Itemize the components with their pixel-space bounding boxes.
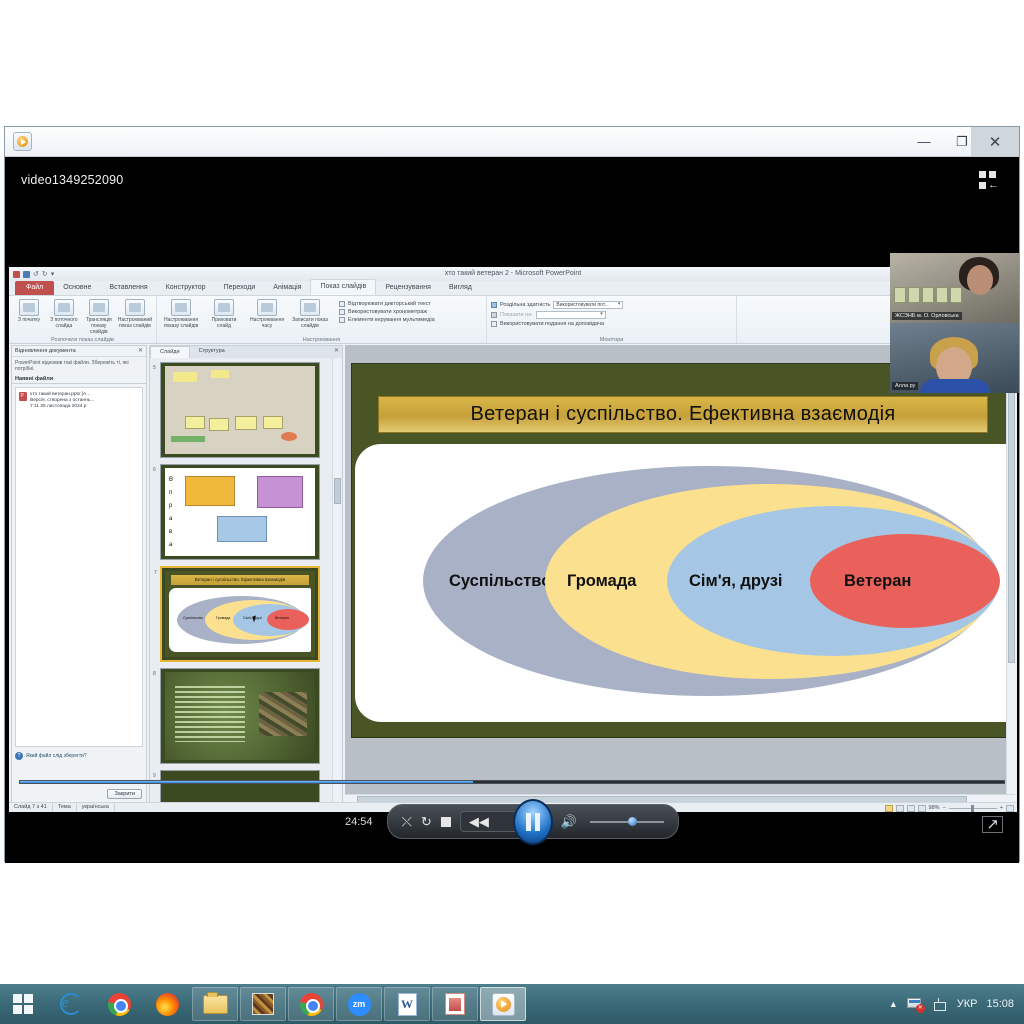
customize-qat-icon[interactable]: ▾ <box>51 270 55 278</box>
rehearse-timings-icon <box>257 299 277 316</box>
button-from-current-slide[interactable]: З поточного слайда <box>48 298 80 329</box>
checkbox-use-timings[interactable]: Використовувати хронометраж <box>339 309 435 315</box>
ribbon: З початку З поточного слайда Трансляція … <box>9 296 1017 344</box>
hide-slide-icon <box>214 299 234 316</box>
view-slideshow-icon[interactable] <box>918 805 926 812</box>
participant-name-2: Алла ру <box>892 382 918 390</box>
seek-bar-row[interactable] <box>5 777 1019 787</box>
row-resolution[interactable]: Роздільна здатність Використовувати пот.… <box>491 301 732 309</box>
close-icon[interactable]: ✕ <box>334 347 339 354</box>
player-controls: 24:54 ⤬ ↻ ◀◀ ▶▶ 🔊 <box>345 804 679 839</box>
powerpoint-file-icon <box>19 392 27 401</box>
slider-knob[interactable] <box>971 805 974 812</box>
recovery-item-name: хто такий ветеран.pptx [A... <box>30 392 90 397</box>
slide-diagram: Суспільство Громада Сім'я, друзі Ветеран <box>355 444 1011 722</box>
ribbon-group-setup: Настроювання показу слайдів Приховати сл… <box>157 296 487 343</box>
word-icon: W <box>398 993 417 1016</box>
ribbon-group-monitors: Роздільна здатність Використовувати пот.… <box>487 296 737 343</box>
thumbnail-slide-7[interactable]: 7 Ветеран і суспільство. Ефективна взаєм… <box>160 566 320 662</box>
view-sorter-icon[interactable] <box>896 805 904 812</box>
thumbnail-slide-5[interactable]: 5 <box>160 362 320 458</box>
slide-number: 8 <box>153 671 156 677</box>
folder-icon <box>203 995 228 1014</box>
elapsed-time: 24:54 <box>345 816 373 828</box>
button-record-slideshow[interactable]: Записати показ слайдів <box>290 298 330 329</box>
thumbnails-scrollbar[interactable] <box>332 358 341 804</box>
play-pause-button[interactable] <box>513 799 553 845</box>
document-recovery-pane: Відновлення документа ✕ PowerPoint відно… <box>11 345 147 803</box>
thumbnail-title: Ветеран і суспільство. Ефективна взаємод… <box>171 575 309 585</box>
webcam-tile-1[interactable]: ЖСЭНБ м. О. Орловська <box>890 253 1019 323</box>
checkbox-icon <box>339 309 345 315</box>
redo-icon[interactable]: ↻ <box>42 270 48 278</box>
start-button[interactable] <box>0 984 46 1024</box>
zoom-in-button[interactable]: + <box>1000 805 1003 811</box>
language-indicator[interactable]: українська <box>77 803 115 812</box>
show-on-dropdown[interactable] <box>536 311 606 319</box>
close-icon[interactable]: ✕ <box>138 347 143 354</box>
tab-slide-show[interactable]: Показ слайдів <box>310 279 376 295</box>
tab-transitions[interactable]: Переходи <box>215 281 265 295</box>
powerpoint-recording: хто такий ветеран 2 - Microsoft PowerPoi… <box>9 267 1017 812</box>
current-slide[interactable]: Ветеран і суспільство. Ефективна взаємод… <box>351 363 1011 738</box>
taskbar-item-word[interactable]: W <box>384 987 430 1021</box>
taskbar-item-chrome-window[interactable] <box>288 987 334 1021</box>
tab-slides[interactable]: Слайди <box>150 346 190 358</box>
checkbox-presenter-view[interactable]: Використовувати подання на доповідача <box>491 321 732 327</box>
tab-home[interactable]: Основне <box>54 281 100 295</box>
recovery-close-button[interactable]: Закрити <box>107 789 142 799</box>
media-player-window: — ❐ ✕ video1349252090 ← хто такий ветера… <box>4 126 1020 862</box>
recovery-file-list[interactable]: хто такий ветеран.pptx [A... Версія, ств… <box>15 387 143 747</box>
checkbox-icon <box>339 317 345 323</box>
save-icon[interactable] <box>23 271 30 278</box>
custom-show-icon <box>125 299 145 316</box>
photo-icon <box>252 993 274 1015</box>
slide-canvas-area[interactable]: Ветеран і суспільство. Ефективна взаємод… <box>345 345 1015 803</box>
taskbar-item-internet-explorer[interactable]: e <box>48 987 94 1021</box>
fit-slide-icon[interactable] <box>1006 805 1014 812</box>
group-label-start-slideshow: Розпочати показ слайдів <box>9 337 156 343</box>
windows-media-player-icon <box>13 132 32 151</box>
recovery-pane-title: Відновлення документа ✕ <box>12 346 146 357</box>
taskbar-item-file-explorer[interactable] <box>192 987 238 1021</box>
participant-name-1: ЖСЭНБ м. О. Орловська <box>892 312 962 320</box>
tab-insert[interactable]: Вставлення <box>100 281 156 295</box>
button-rehearse-timings[interactable]: Настроювання часу <box>247 298 287 329</box>
webcam-tile-2[interactable]: Алла ру <box>890 323 1019 393</box>
firefox-icon <box>156 993 179 1016</box>
status-bar-right: 98% − + <box>885 803 1014 812</box>
recovery-item-time: 7:11 25 листопада 2024 р <box>30 404 86 409</box>
powerpoint-title-bar: хто такий ветеран 2 - Microsoft PowerPoi… <box>9 267 1017 281</box>
network-icon[interactable] <box>933 998 948 1011</box>
language-indicator[interactable]: УКР <box>957 998 978 1010</box>
zoom-slider[interactable] <box>949 808 997 809</box>
tab-design[interactable]: Конструктор <box>157 281 215 295</box>
taskbar-item-firefox[interactable] <box>144 987 190 1021</box>
ellipse-veteran: Ветеран <box>810 534 1000 628</box>
view-options-icon[interactable]: ← <box>979 171 1003 195</box>
button-hide-slide[interactable]: Приховати слайд <box>204 298 244 329</box>
internet-explorer-icon: e <box>60 993 82 1015</box>
button-set-up-slideshow[interactable]: Настроювання показу слайдів <box>161 298 201 329</box>
ellipse-label-community: Громада <box>567 572 636 591</box>
help-icon: ? <box>15 752 23 760</box>
repeat-icon[interactable]: ↻ <box>421 815 432 828</box>
thumbnail-preview <box>165 672 315 760</box>
recovery-help-link[interactable]: ? Який файл слід зберегти? <box>12 750 146 762</box>
group-label-setup: Настроювання <box>157 337 486 343</box>
transport-group: ◀◀ ▶▶ <box>460 811 552 832</box>
row-show-on[interactable]: Показати на: <box>491 311 732 319</box>
monitor-icon <box>491 312 497 318</box>
slide-counter: Слайд 7 з 41 <box>9 803 53 812</box>
control-bar: ⤬ ↻ ◀◀ ▶▶ 🔊 <box>387 804 680 839</box>
taskbar-item-media-player[interactable] <box>480 987 526 1021</box>
recovery-pane-subtitle: Наявні файли <box>12 375 146 384</box>
quick-access-toolbar[interactable]: ↺ ↻ ▾ <box>13 269 54 279</box>
button-broadcast-slideshow[interactable]: Трансляція показу слайдів <box>83 298 115 335</box>
view-normal-icon[interactable] <box>885 805 893 812</box>
thumbnail-preview: Вправа <box>165 468 315 556</box>
tab-animations[interactable]: Анімація <box>264 281 310 295</box>
stop-icon[interactable] <box>441 817 451 827</box>
chrome-icon <box>300 993 323 1016</box>
slide-number: 7 <box>154 570 157 576</box>
powerpoint-icon <box>445 993 465 1015</box>
tab-review[interactable]: Рецензування <box>376 281 440 295</box>
slide-title: Ветеран і суспільство. Ефективна взаємод… <box>378 396 988 433</box>
ellipse-label-veteran: Ветеран <box>844 572 911 591</box>
seek-bar-fill <box>20 781 473 783</box>
checkbox-icon <box>491 321 497 327</box>
windows-taskbar: e zm W ▲ ✕ УКР 15:08 <box>0 984 1024 1024</box>
slide-number: 6 <box>153 467 156 473</box>
zoom-level: 98% <box>929 805 940 811</box>
resolution-icon <box>491 302 497 308</box>
thumbnail-slide-6[interactable]: 6 Вправа <box>160 464 320 560</box>
thumbnail-tabs[interactable]: Слайди Структура ✕ <box>150 346 342 358</box>
powerpoint-app-icon <box>13 271 20 278</box>
minimize-button[interactable]: — <box>905 127 943 156</box>
recovery-list-item[interactable]: хто такий ветеран.pptx [A... Версія, ств… <box>16 388 142 414</box>
participant-body <box>920 379 990 393</box>
resolution-dropdown[interactable]: Використовувати пот... <box>553 301 623 309</box>
show-hidden-icons-button[interactable]: ▲ <box>889 999 898 1009</box>
thumbnail-slide-8[interactable]: 8 <box>160 668 320 764</box>
thumbnail-preview: Ветеран і суспільство. Ефективна взаємод… <box>165 571 315 657</box>
recovery-pane-description: PowerPoint відновив такі файли. Збережіт… <box>12 357 146 375</box>
chrome-icon <box>108 993 131 1016</box>
slideshow-current-icon <box>54 299 74 316</box>
close-button[interactable]: ✕ <box>971 127 1019 156</box>
theme-name: Тема <box>53 803 77 812</box>
taskbar-item-powerpoint[interactable] <box>432 987 478 1021</box>
media-player-icon <box>492 993 515 1016</box>
checkbox-icon <box>339 301 345 307</box>
group-label-monitors: Монітори <box>487 337 736 343</box>
webcam-tiles: ЖСЭНБ м. О. Орловська Алла ру <box>890 253 1019 393</box>
participant-face <box>967 265 993 295</box>
thumbnail-slide-9[interactable]: 9 <box>160 770 320 804</box>
volume-slider[interactable] <box>590 821 664 823</box>
player-title-bar: — ❐ ✕ <box>5 127 1019 157</box>
recovery-item-version: Версія, створена з останнь... <box>30 398 94 403</box>
tab-file[interactable]: Файл <box>15 281 54 295</box>
tab-view[interactable]: Вигляд <box>440 281 481 295</box>
scrollbar-thumb[interactable] <box>334 478 341 504</box>
thumbnail-list[interactable]: 5 6 <box>150 358 342 804</box>
shuffle-icon[interactable]: ⤬ <box>402 815 412 828</box>
action-center-icon[interactable]: ✕ <box>907 998 924 1011</box>
slide-number: 5 <box>153 365 156 371</box>
record-show-icon <box>300 299 320 316</box>
system-tray: ▲ ✕ УКР 15:08 <box>889 998 1024 1011</box>
windows-logo-icon <box>13 994 33 1014</box>
slideshow-start-icon <box>19 299 39 316</box>
ellipse-label-family-friends: Сім'я, друзі <box>689 572 783 591</box>
tab-outline[interactable]: Структура <box>190 346 234 358</box>
button-from-beginning[interactable]: З початку <box>13 298 45 323</box>
canvas-vertical-scrollbar[interactable] <box>1006 345 1015 794</box>
taskbar-item-google-chrome[interactable] <box>96 987 142 1021</box>
video-file-name: video1349252090 <box>21 173 123 187</box>
video-surface[interactable]: video1349252090 ← хто такий ветеран 2 - … <box>5 157 1019 863</box>
ribbon-group-start-slideshow: З початку З поточного слайда Трансляція … <box>9 296 157 343</box>
button-custom-slideshow[interactable]: Настроюваний показ слайдів <box>118 298 152 329</box>
zoom-out-button[interactable]: − <box>943 805 946 811</box>
slide-thumbnails-pane: Слайди Структура ✕ 5 <box>149 345 343 803</box>
setup-show-icon <box>171 299 191 316</box>
undo-icon[interactable]: ↺ <box>33 270 39 278</box>
zoom-icon: zm <box>348 993 371 1016</box>
previous-icon[interactable]: ◀◀ <box>469 815 489 828</box>
taskbar-item-zoom[interactable]: zm <box>336 987 382 1021</box>
ellipse-label-society: Суспільство <box>449 572 551 591</box>
broadcast-icon <box>89 299 109 316</box>
fullscreen-button[interactable]: ↗ <box>982 816 1003 833</box>
thumbnail-preview <box>165 366 315 454</box>
scrollbar-thumb[interactable] <box>1008 363 1015 663</box>
view-reading-icon[interactable] <box>907 805 915 812</box>
checkbox-play-narrations[interactable]: Відтворювати дикторський текст <box>339 301 435 307</box>
checkbox-show-media-controls[interactable]: Елементи керування мультимедіа <box>339 317 435 323</box>
taskbar-item-photo-viewer[interactable] <box>240 987 286 1021</box>
ribbon-tabs[interactable]: Файл Основне Вставлення Конструктор Пере… <box>9 281 1017 296</box>
seek-bar-track[interactable] <box>19 780 1005 784</box>
clock[interactable]: 15:08 <box>986 998 1014 1010</box>
volume-icon[interactable]: 🔊 <box>561 815 577 828</box>
slider-knob[interactable] <box>628 817 637 826</box>
